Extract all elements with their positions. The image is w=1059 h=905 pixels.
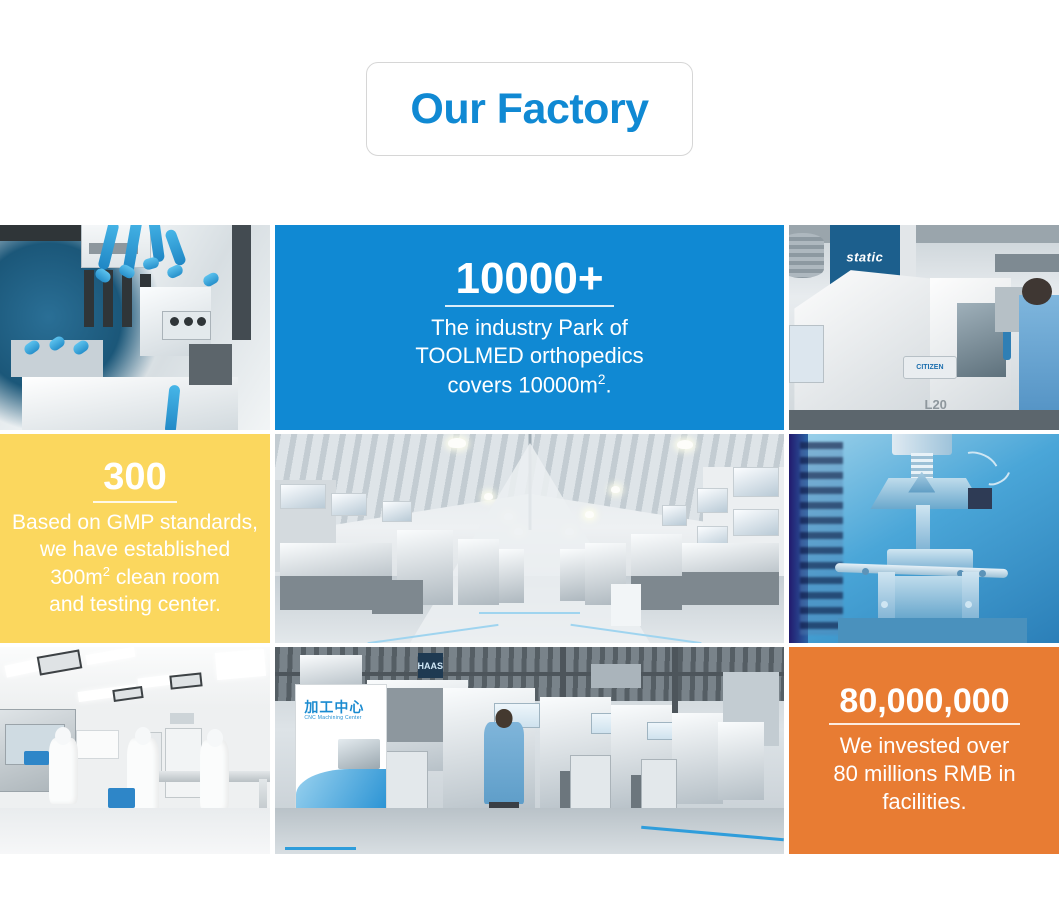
- stat-desc-line: Based on GMP standards,: [12, 510, 258, 537]
- banner-title-cn: 加工中心: [304, 697, 364, 717]
- photo-clean-room: [0, 647, 270, 854]
- lathe-badge-label: CITIZEN: [916, 364, 943, 371]
- photo-cnc-closeup: [0, 225, 270, 430]
- stat-desc-investment: We invested over 80 millions RMB in faci…: [833, 732, 1015, 816]
- photo-testing-rig: [789, 434, 1059, 643]
- testing-rig-image: [789, 434, 1059, 643]
- factory-hall-image: [275, 434, 784, 643]
- machining-operator: [484, 722, 525, 805]
- lathe-brand-label: static: [846, 249, 883, 264]
- stat-desc-line: TOOLMED orthopedics: [415, 342, 643, 370]
- banner-title-en: CNC Machining Center: [304, 715, 361, 721]
- stat-desc-line: 300m2 clean room: [12, 564, 258, 592]
- stat-panel-cleanroom: 300 Based on GMP standards, we have esta…: [0, 434, 270, 643]
- stat-desc-line: 80 millions RMB in: [833, 760, 1015, 788]
- stat-panel-investment: 80,000,000 We invested over 80 millions …: [789, 647, 1059, 854]
- page-title: Our Factory: [410, 88, 648, 131]
- lathe-badge: CITIZEN: [903, 356, 957, 379]
- stat-panel-area: 10000+ The industry Park of TOOLMED orth…: [275, 225, 784, 430]
- stat-desc-cleanroom: Based on GMP standards, we have establis…: [12, 510, 258, 619]
- stat-number-investment: 80,000,000: [829, 684, 1019, 725]
- our-factory-page: Our Factory: [0, 0, 1059, 905]
- machining-row-image: HAAS 加工中心 CNC Machining Center: [275, 647, 784, 854]
- photo-cnc-lathe: static CITIZEN L20: [789, 225, 1059, 430]
- factory-grid: 10000+ The industry Park of TOOLMED orth…: [0, 225, 1059, 853]
- haas-brand-label: HAAS: [418, 653, 443, 678]
- stat-number-area: 10000+: [445, 256, 613, 307]
- stat-desc-line: facilities.: [833, 788, 1015, 816]
- cnc-lathe-image: static CITIZEN L20: [789, 225, 1059, 430]
- stat-desc-area: The industry Park of TOOLMED orthopedics…: [415, 314, 643, 399]
- machining-banner: 加工中心 CNC Machining Center: [295, 684, 387, 812]
- stat-number-cleanroom: 300: [93, 458, 176, 503]
- page-header: Our Factory: [0, 0, 1059, 218]
- cnc-closeup-image: [0, 225, 270, 430]
- stat-desc-line: covers 10000m2.: [415, 371, 643, 399]
- stat-desc-line: and testing center.: [12, 592, 258, 619]
- stat-desc-line: The industry Park of: [415, 314, 643, 342]
- stat-desc-line: we have established: [12, 537, 258, 564]
- clean-room-image: [0, 647, 270, 854]
- photo-machining-row: HAAS 加工中心 CNC Machining Center: [275, 647, 784, 854]
- stat-desc-line: We invested over: [833, 732, 1015, 760]
- photo-factory-hall: [275, 434, 784, 643]
- page-title-box: Our Factory: [366, 62, 693, 156]
